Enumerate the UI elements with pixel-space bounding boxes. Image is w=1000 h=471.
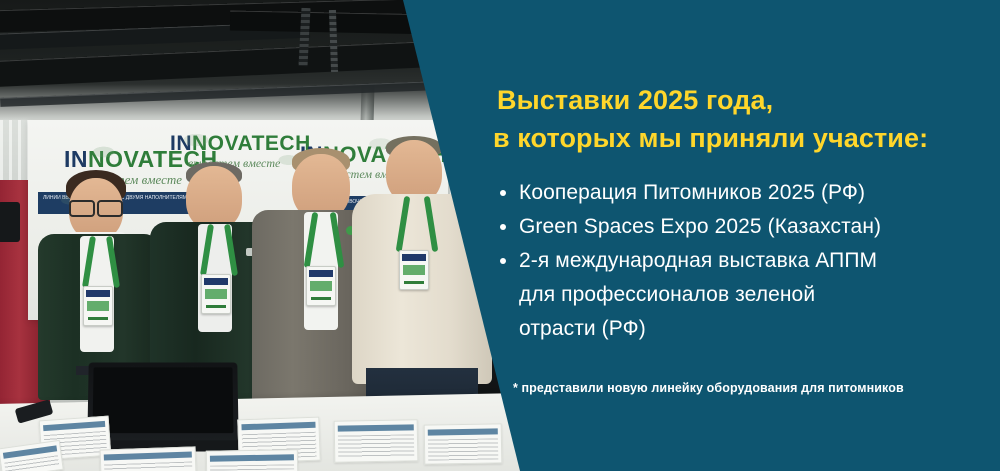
badge-footer <box>206 305 226 308</box>
list-item: Кооперация Питомников 2025 (РФ) <box>497 176 987 210</box>
brochure <box>334 419 419 462</box>
name-badge <box>83 286 113 326</box>
badge-header <box>309 270 333 277</box>
bullet-dot-icon <box>500 190 506 196</box>
bullet-dot-icon <box>500 258 506 264</box>
laptop <box>87 362 238 442</box>
badge-body <box>87 301 109 311</box>
laptop-screen <box>92 367 233 433</box>
badge-body <box>403 265 425 275</box>
bullet-dot-icon <box>500 224 506 230</box>
logo-part-in: IN <box>170 132 192 155</box>
face <box>186 166 242 230</box>
list-item-label: Green Spaces Expo 2025 (Казахстан) <box>519 215 881 238</box>
page-title-line2: в которых мы приняли участие: <box>493 118 928 158</box>
logo-part-in: IN <box>64 146 88 172</box>
promo-banner: INNOVATECH вырастем вместе INNOVATECH вы… <box>0 0 1000 471</box>
brochure <box>206 449 298 471</box>
glasses-icon <box>69 200 123 213</box>
badge-footer <box>88 317 108 320</box>
badge-header <box>86 290 110 297</box>
list-item: 2-я международная выставка АППМ для проф… <box>497 244 987 346</box>
logo-part-nova: NOVA <box>192 132 252 155</box>
badge-footer <box>404 281 424 284</box>
exhibitions-list: Кооперация Питомников 2025 (РФ) Green Sp… <box>497 176 987 346</box>
badge-header <box>204 278 228 285</box>
list-item: Green Spaces Expo 2025 (Казахстан) <box>497 210 987 244</box>
list-item-label: 2-я международная выставка АППМ <box>519 249 877 272</box>
machine-panel <box>0 202 20 242</box>
list-item-label: Кооперация Питомников 2025 (РФ) <box>519 181 865 204</box>
brochure <box>424 423 503 464</box>
list-item-label-line3: отрасти (РФ) <box>519 312 987 346</box>
list-item-label-line2: для профессионалов зеленой <box>519 278 987 312</box>
badge-body <box>310 281 332 291</box>
name-badge <box>201 274 231 314</box>
badge-body <box>205 289 227 299</box>
badge-footer <box>311 297 331 300</box>
name-badge <box>306 266 336 306</box>
page-title-line1: Выставки 2025 года, <box>497 80 773 120</box>
logo-part-nova: NOVA <box>88 146 153 172</box>
brochure <box>100 446 197 471</box>
footnote: * представили новую линейку оборудования… <box>513 381 904 395</box>
name-badge <box>399 250 429 290</box>
badge-header <box>402 254 426 261</box>
